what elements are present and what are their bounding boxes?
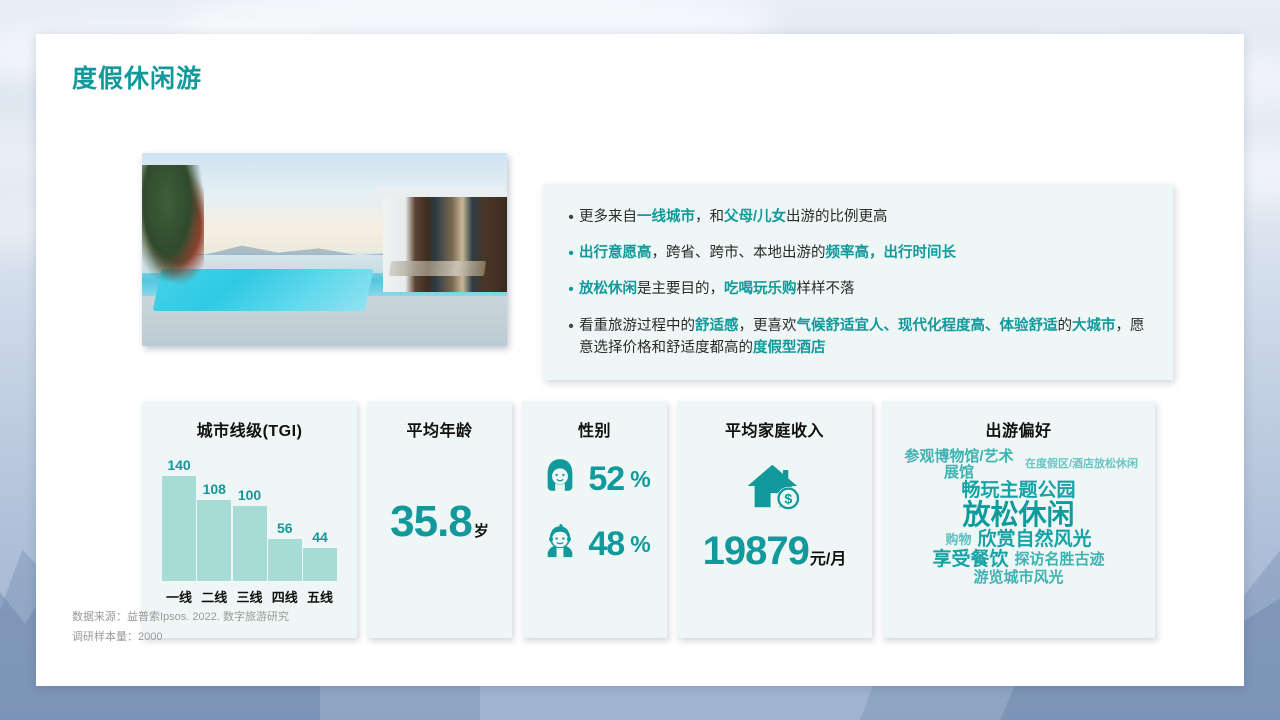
gender-male-row: 48%	[522, 520, 667, 569]
house-money-icon: $	[677, 459, 872, 513]
word-cloud-term: 在度假区/酒店放松休闲	[1025, 459, 1138, 471]
female-percent-sign: %	[630, 466, 650, 493]
word-cloud-line: 放松休闲	[890, 500, 1147, 529]
income-value-block: 19879元/月	[677, 529, 872, 574]
word-cloud-line: 参观博物馆/艺术展馆在度假区/酒店放松休闲	[890, 449, 1147, 481]
bar	[268, 539, 302, 581]
income-number: 19879	[703, 529, 809, 573]
word-cloud-term: 探访名胜古迹	[1015, 552, 1105, 568]
insight-bullet: •放松休闲是主要目的，吃喝玩乐购样样不落	[563, 278, 1147, 301]
word-cloud-term: 畅玩主题公园	[961, 481, 1075, 501]
page-title: 度假休闲游	[72, 59, 202, 95]
word-cloud-term: 欣赏自然风光	[978, 530, 1092, 550]
word-cloud-line: 享受餐饮探访名胜古迹	[890, 550, 1147, 570]
card-average-age: 平均年龄 35.8岁	[367, 401, 512, 638]
insight-bullet: •看重旅游过程中的舒适感，更喜欢气候舒适宜人、现代化程度高、体验舒适的大城市，愿…	[563, 315, 1147, 360]
male-percent-sign: %	[630, 531, 650, 558]
resort-pool-photo	[142, 153, 507, 346]
card-title-city-tier: 城市线级(TGI)	[142, 417, 357, 441]
card-travel-preference: 出游偏好 参观博物馆/艺术展馆在度假区/酒店放松休闲畅玩主题公园放松休闲购物欣赏…	[882, 401, 1155, 638]
bar-column: 56	[268, 453, 302, 581]
bar-column: 44	[303, 453, 337, 581]
footer-sample-line: 调研样本量：2000	[72, 628, 289, 648]
city-tier-bar-chart: 1401081005644 一线二线三线四线五线	[158, 453, 341, 622]
word-cloud-term: 购物	[945, 533, 971, 547]
svg-text:$: $	[784, 492, 792, 508]
card-title-gender: 性别	[522, 417, 667, 441]
bullet-dot-icon: •	[563, 278, 579, 301]
word-cloud-term: 游览城市风光	[973, 570, 1063, 586]
preference-word-cloud: 参观博物馆/艺术展馆在度假区/酒店放松休闲畅玩主题公园放松休闲购物欣赏自然风光享…	[890, 449, 1147, 628]
insight-bullet: •更多来自一线城市，和父母/儿女出游的比例更高	[563, 206, 1147, 229]
gender-female-row: 52%	[522, 455, 667, 504]
card-title-household-income: 平均家庭收入	[677, 417, 872, 441]
bar-value-label: 140	[167, 457, 190, 473]
word-cloud-line: 畅玩主题公园	[890, 481, 1147, 501]
bar	[197, 500, 231, 581]
male-percent: 48	[588, 525, 624, 564]
average-age-number: 35.8	[390, 497, 472, 546]
footer-source-line: 数据来源：益普索Ipsos. 2022. 数字旅游研究	[72, 608, 289, 628]
card-gender: 性别 52%	[522, 401, 667, 638]
insight-bullet: •出行意愿高，跨省、跨市、本地出游的频率高，出行时间长	[563, 242, 1147, 265]
card-city-tier: 城市线级(TGI) 1401081005644 一线二线三线四线五线	[142, 401, 357, 638]
average-age-value-block: 35.8岁	[367, 497, 512, 547]
bar-category-label: 三线	[233, 587, 267, 606]
bar-value-label: 44	[312, 529, 328, 545]
bar-category-label: 四线	[268, 587, 302, 606]
bar-value-label: 100	[238, 487, 261, 503]
insight-bullet-text: 更多来自一线城市，和父母/儿女出游的比例更高	[579, 206, 1147, 229]
insight-bullet-text: 放松休闲是主要目的，吃喝玩乐购样样不落	[579, 278, 1147, 301]
female-avatar-icon	[538, 455, 582, 504]
insight-bullet-text: 出行意愿高，跨省、跨市、本地出游的频率高，出行时间长	[579, 242, 1147, 265]
bar-value-label: 108	[203, 481, 226, 497]
bar-category-label: 二线	[197, 587, 231, 606]
bar	[233, 506, 267, 581]
footer-source: 数据来源：益普索Ipsos. 2022. 数字旅游研究 调研样本量：2000	[72, 608, 289, 648]
insight-bullet-text: 看重旅游过程中的舒适感，更喜欢气候舒适宜人、现代化程度高、体验舒适的大城市，愿意…	[579, 315, 1147, 360]
bullet-dot-icon: •	[563, 242, 579, 265]
word-cloud-term: 放松休闲	[962, 500, 1074, 529]
bar-category-label: 一线	[162, 587, 196, 606]
word-cloud-line: 购物欣赏自然风光	[890, 530, 1147, 550]
female-percent: 52	[588, 460, 624, 499]
card-household-income: 平均家庭收入 $ 19879元/月	[677, 401, 872, 638]
stats-card-row: 城市线级(TGI) 1401081005644 一线二线三线四线五线 平均年龄 …	[142, 401, 1155, 638]
bar-column: 108	[197, 453, 231, 581]
bar-column: 140	[162, 453, 196, 581]
bar-column: 100	[233, 453, 267, 581]
word-cloud-line: 游览城市风光	[890, 570, 1147, 587]
bar	[162, 476, 196, 581]
bar-value-label: 56	[277, 520, 293, 536]
insights-panel: •更多来自一线城市，和父母/儿女出游的比例更高•出行意愿高，跨省、跨市、本地出游…	[543, 184, 1173, 380]
bar-category-label: 五线	[303, 587, 337, 606]
average-age-unit: 岁	[474, 523, 489, 540]
bullet-dot-icon: •	[563, 315, 579, 360]
slide-canvas: 度假休闲游 •更多来自一线城市，和父母/儿女出游的比例更高•出行意愿高，跨省、跨…	[36, 34, 1244, 686]
income-unit: 元/月	[810, 551, 846, 568]
male-avatar-icon	[538, 520, 582, 569]
word-cloud-term: 享受餐饮	[932, 550, 1008, 570]
card-title-travel-preference: 出游偏好	[882, 417, 1155, 441]
bullet-dot-icon: •	[563, 206, 579, 229]
card-title-average-age: 平均年龄	[367, 417, 512, 441]
word-cloud-term: 参观博物馆/艺术展馆	[899, 449, 1019, 481]
bar	[303, 548, 337, 581]
